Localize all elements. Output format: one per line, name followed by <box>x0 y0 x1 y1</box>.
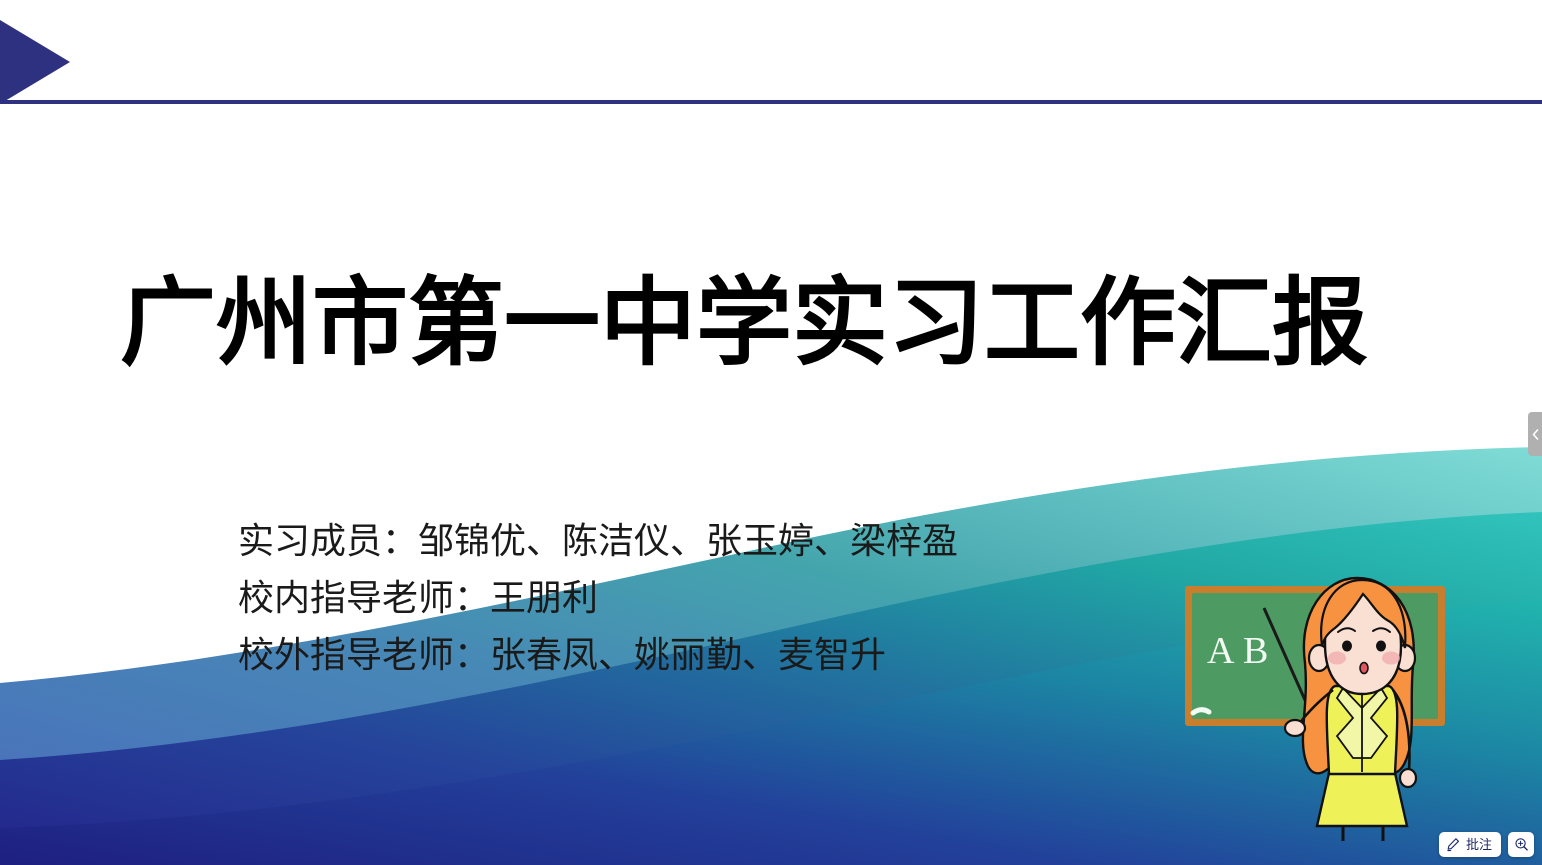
pen-icon <box>1446 837 1461 852</box>
annotate-button[interactable]: 批注 <box>1439 832 1501 857</box>
chalkboard-letter-b: B <box>1243 630 1268 672</box>
body-line-internal-advisor: 校内指导老师：王朋利 <box>238 569 1218 626</box>
skirt <box>1317 773 1407 826</box>
slide-title: 广州市第一中学实习工作汇报 <box>120 272 1420 376</box>
eye-left <box>1342 641 1352 652</box>
header-divider <box>0 100 1542 104</box>
chalkboard-letter-a: A <box>1207 630 1235 672</box>
blush-right <box>1382 652 1400 665</box>
hand-right <box>1400 769 1416 787</box>
teacher-at-chalkboard-illustration: A B <box>1165 558 1465 858</box>
header-band <box>0 0 1542 103</box>
zoom-in-button[interactable] <box>1508 832 1534 857</box>
eye-right <box>1376 641 1386 652</box>
mouth <box>1360 663 1368 674</box>
right-arrow-triangle-icon <box>0 20 72 104</box>
panel-collapse-handle[interactable] <box>1528 412 1542 456</box>
blush-left <box>1328 652 1346 665</box>
body-line-members: 实习成员：邹锦优、陈洁仪、张玉婷、梁梓盈 <box>238 512 1218 569</box>
slide-toolbar: 批注 <box>1439 832 1534 857</box>
slide-body: 实习成员：邹锦优、陈洁仪、张玉婷、梁梓盈 校内指导老师：王朋利 校外指导老师：张… <box>238 512 1218 683</box>
annotate-label: 批注 <box>1466 838 1492 851</box>
body-line-external-advisors: 校外指导老师：张春凤、姚丽勤、麦智升 <box>238 626 1218 683</box>
chevron-left-icon <box>1532 429 1539 440</box>
magnifier-plus-icon <box>1514 837 1529 852</box>
presentation-slide: 广州市第一中学实习工作汇报 实习成员：邹锦优、陈洁仪、张玉婷、梁梓盈 校内指导老… <box>0 0 1542 865</box>
hand-left <box>1285 720 1305 736</box>
